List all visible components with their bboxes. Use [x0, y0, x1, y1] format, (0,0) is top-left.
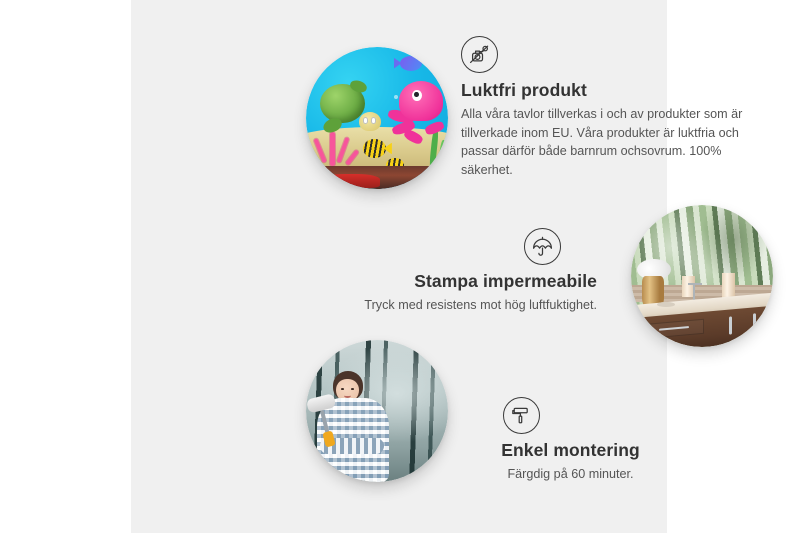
content-panel: Luktfri produkt Alla våra tavlor tillver…	[131, 0, 667, 533]
icon-row	[327, 228, 597, 265]
sea-turtle-icon	[320, 84, 382, 132]
feature-body: Tryck med resistens mot hög luftfuktighe…	[327, 296, 597, 315]
octopus-icon	[388, 81, 445, 149]
yellow-striped-fish-icon	[363, 139, 386, 157]
icon-row	[453, 397, 688, 434]
faucet-icon	[693, 283, 695, 300]
soap-dish	[657, 302, 675, 308]
no-fragrance-icon	[461, 36, 498, 73]
feature-heading: Stampa impermeabile	[327, 271, 597, 292]
sea-bottom-rocks	[306, 166, 448, 189]
woman-figure	[312, 371, 394, 482]
underwater-cartoon-circle-image	[306, 47, 448, 189]
umbrella-icon	[524, 228, 561, 265]
feature-heading: Enkel montering	[453, 440, 688, 461]
coral-icon	[312, 127, 355, 167]
bathroom-tropical-wallpaper-circle-image	[631, 205, 773, 347]
candle	[722, 273, 735, 299]
product-feature-infographic: Luktfri produkt Alla våra tavlor tillver…	[0, 0, 800, 533]
icon-row	[461, 36, 765, 73]
feature-body: Färgdig på 60 minuter.	[453, 465, 688, 484]
feature-odourless-product: Luktfri produkt Alla våra tavlor tillver…	[461, 36, 765, 180]
woman-paint-roller-forest-circle-image	[306, 340, 448, 482]
feature-waterproof-print: Stampa impermeabile Tryck med resistens …	[327, 228, 597, 315]
feature-body: Alla våra tavlor tillverkas i och av pro…	[461, 105, 765, 180]
feature-easy-assembly: Enkel montering Färgdig på 60 minuter.	[453, 397, 688, 484]
feature-heading: Luktfri produkt	[461, 80, 765, 101]
paint-roller-icon	[503, 397, 540, 434]
